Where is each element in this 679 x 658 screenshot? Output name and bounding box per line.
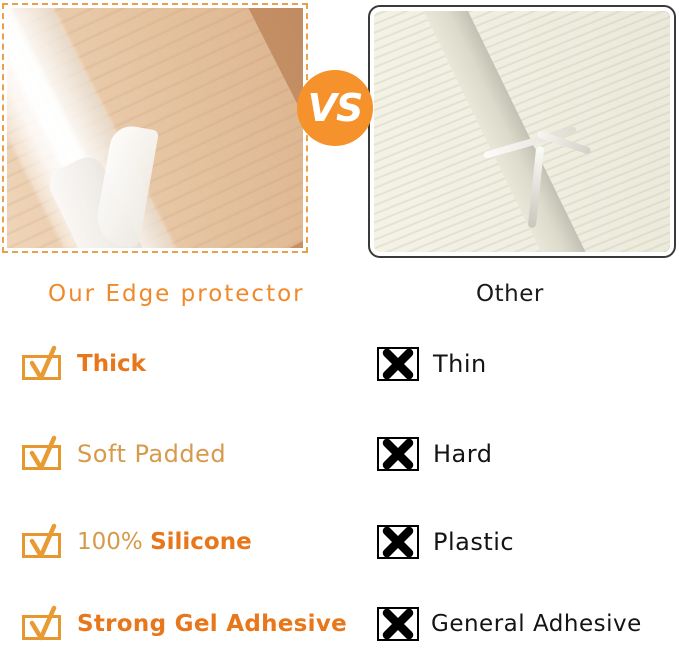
feature-label-ours: Strong Gel Adhesive bbox=[77, 613, 347, 636]
feature-label-ours: Thick bbox=[77, 353, 146, 376]
column-heading-ours: Our Edge protector bbox=[48, 281, 305, 307]
feature-label-other: Plastic bbox=[433, 530, 514, 554]
feature-ours: Strong Gel Adhesive bbox=[22, 598, 347, 650]
x-mark-icon bbox=[377, 525, 419, 559]
feature-ours: Thick bbox=[22, 338, 146, 390]
feature-row: Thick Thin bbox=[0, 338, 679, 398]
feature-other: General Adhesive bbox=[377, 598, 642, 650]
check-mark-icon bbox=[22, 608, 63, 641]
feature-row: 100% Silicone Plastic bbox=[0, 516, 679, 576]
feature-other: Plastic bbox=[377, 516, 514, 568]
vs-badge-label: VS bbox=[308, 89, 363, 127]
comparison-photos: VS bbox=[0, 0, 679, 262]
vs-badge: VS bbox=[297, 70, 373, 146]
feature-label-ours-prefix: 100% bbox=[77, 529, 150, 555]
check-mark-icon bbox=[22, 526, 63, 559]
feature-label-ours: 100% Silicone bbox=[77, 531, 252, 554]
feature-label-other: Hard bbox=[433, 442, 492, 466]
column-heading-other: Other bbox=[476, 281, 544, 307]
feature-other: Thin bbox=[377, 338, 487, 390]
x-mark-icon bbox=[377, 437, 419, 471]
feature-comparison-list: Thick Thin Soft Padded Hard bbox=[0, 330, 679, 643]
photo-our-edge-protector bbox=[2, 3, 308, 253]
x-mark-icon bbox=[377, 347, 419, 381]
feature-label-other: Thin bbox=[433, 352, 487, 376]
feature-ours: 100% Silicone bbox=[22, 516, 252, 568]
photo-our-inner bbox=[7, 8, 303, 248]
feature-row: Soft Padded Hard bbox=[0, 428, 679, 488]
feature-label-other: General Adhesive bbox=[431, 613, 642, 636]
feature-label-ours: Soft Padded bbox=[77, 442, 226, 466]
photo-other-inner bbox=[374, 11, 670, 252]
x-mark-icon bbox=[377, 607, 419, 641]
check-mark-icon bbox=[22, 438, 63, 471]
feature-row: Strong Gel Adhesive General Adhesive bbox=[0, 598, 679, 658]
photo-other-edge-protector bbox=[368, 5, 676, 258]
feature-label-ours-main: Silicone bbox=[150, 529, 252, 555]
check-mark-icon bbox=[22, 348, 63, 381]
feature-ours: Soft Padded bbox=[22, 428, 226, 480]
feature-other: Hard bbox=[377, 428, 492, 480]
